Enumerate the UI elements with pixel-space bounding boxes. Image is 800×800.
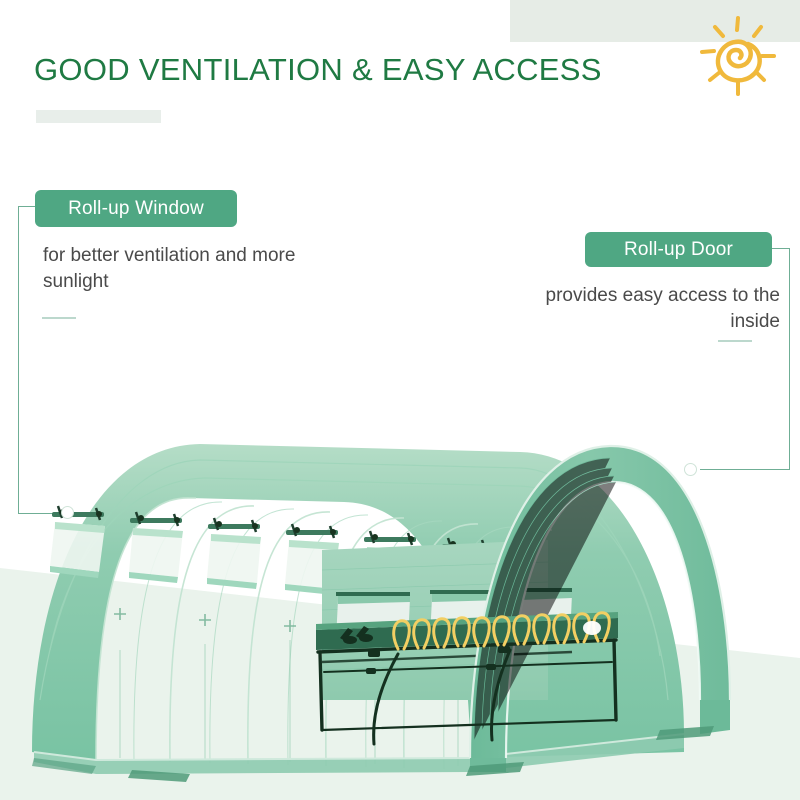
callout-description-roll-up-door: provides easy access to the inside (540, 283, 780, 335)
roll-up-window (50, 506, 105, 578)
poster-canvas: GOOD VENTILATION & EASY ACCESS Roll-up W… (0, 0, 800, 800)
sun-icon (690, 8, 786, 104)
roll-up-window (207, 518, 261, 589)
connector-dot-window (61, 506, 74, 519)
callout-badge-roll-up-door: Roll-up Door (585, 232, 772, 267)
callout-description-roll-up-window: for better ventilation and more sunlight (43, 243, 343, 295)
roll-up-window (129, 512, 183, 583)
greenhouse-illustration (0, 400, 800, 800)
title-underbar (36, 110, 161, 123)
callout-badge-roll-up-window: Roll-up Window (35, 190, 237, 227)
connector-dot-door (684, 463, 697, 476)
connector-door-top (772, 248, 790, 249)
callout-rule-window (42, 317, 76, 319)
callout-rule-door (718, 340, 752, 342)
page-title: GOOD VENTILATION & EASY ACCESS (34, 52, 602, 88)
